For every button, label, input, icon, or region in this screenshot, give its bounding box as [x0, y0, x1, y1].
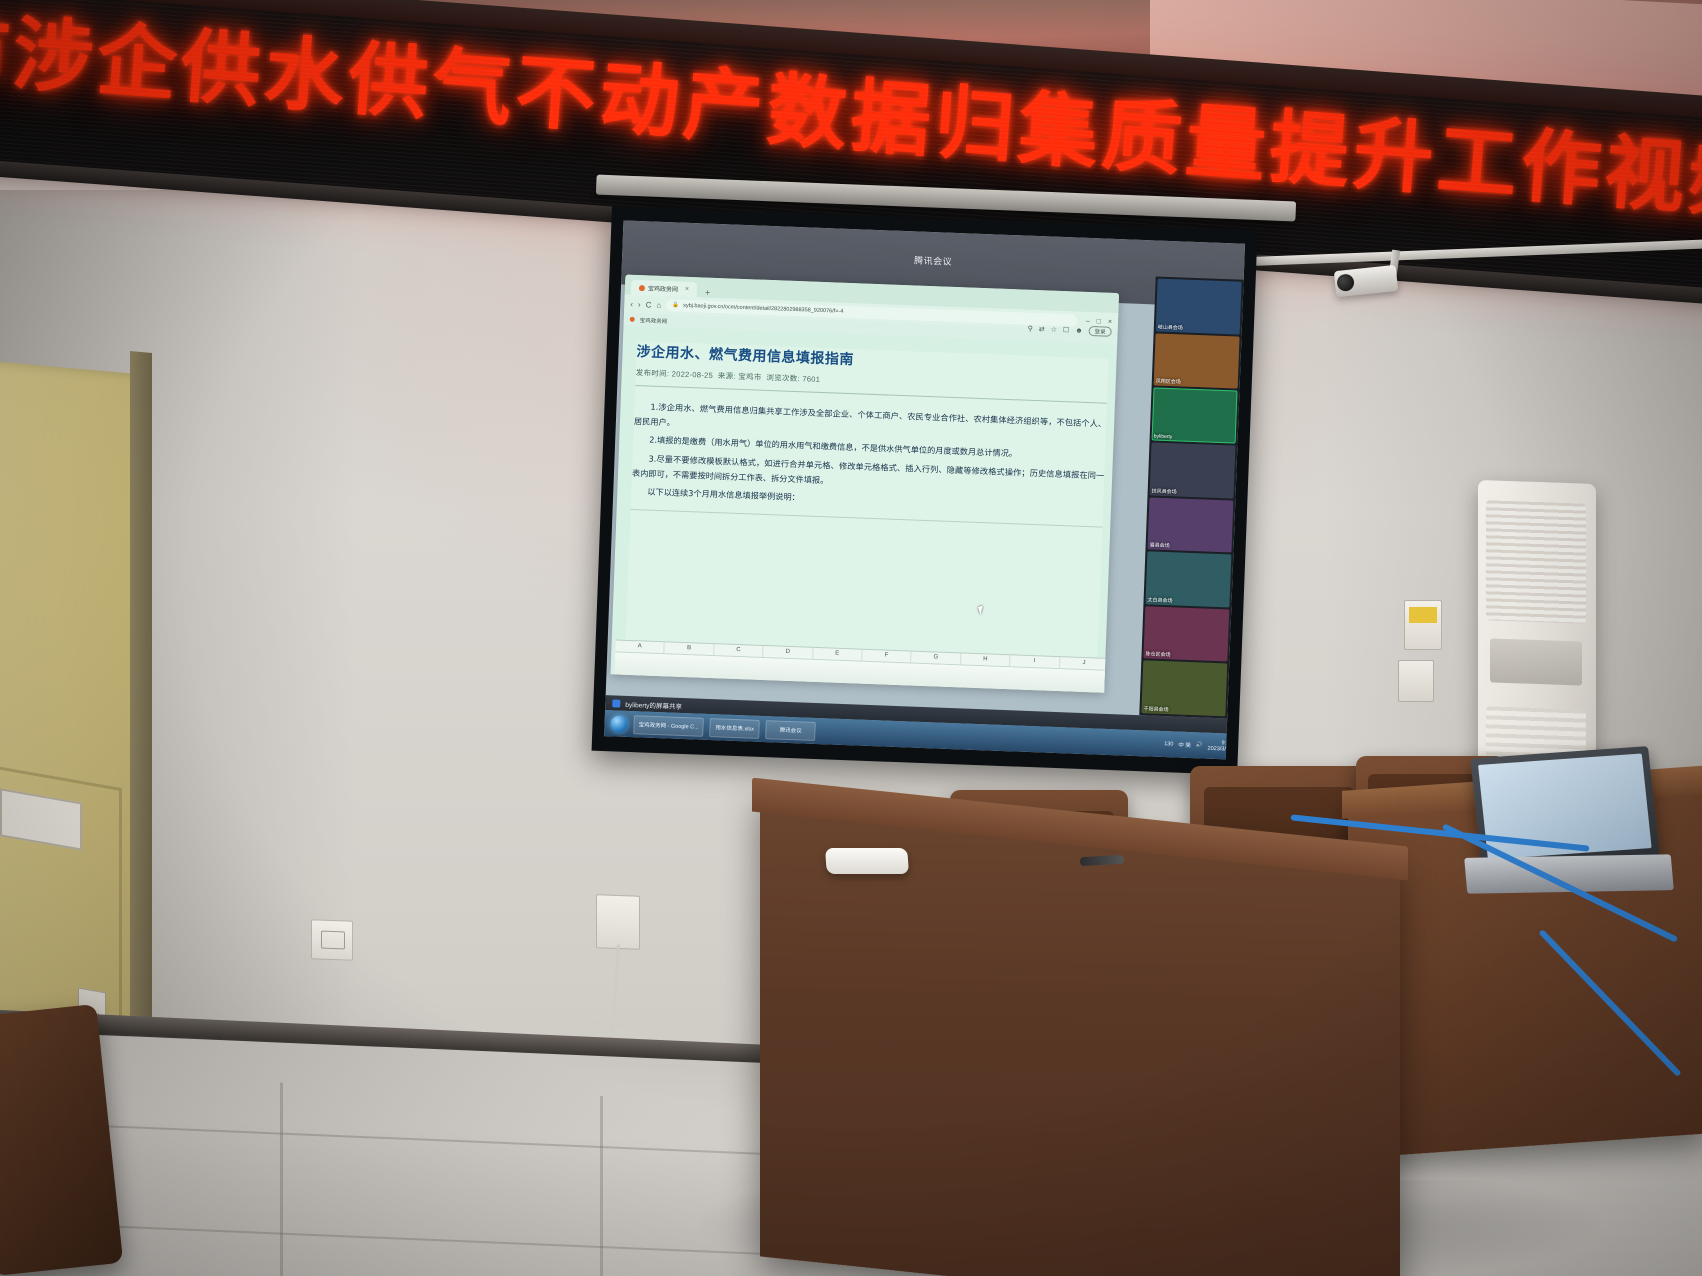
spreadsheet-col: F: [862, 650, 912, 663]
windows-start-icon[interactable]: [610, 715, 628, 733]
video-tile-label: 陈仓区会场: [1145, 651, 1170, 659]
maximize-icon[interactable]: □: [1097, 318, 1101, 325]
taskbar-item[interactable]: 用水信息表.xlsx: [709, 718, 760, 739]
views-value: 7601: [802, 374, 820, 384]
taskbar-item[interactable]: 腾讯会议: [765, 720, 816, 741]
floor-tile-line: [600, 1096, 603, 1276]
source-value: 宝鸡市: [738, 372, 762, 382]
reading-list-icon[interactable]: ☐: [1063, 326, 1070, 334]
spreadsheet-col: J: [1060, 657, 1110, 670]
url-text: sybj.baoji.gov.cn/ocm/content/detail/282…: [683, 303, 843, 315]
profile-icon[interactable]: ☻: [1075, 327, 1083, 334]
star-icon[interactable]: ☆: [1051, 326, 1058, 334]
publish-label: 发布时间:: [636, 368, 670, 378]
room-door[interactable]: 安全出口: [0, 361, 150, 1075]
views-label: 浏览次数:: [766, 373, 800, 383]
spreadsheet-col: A: [615, 640, 665, 653]
share-screen-icon: [612, 699, 620, 707]
source-label: 来源:: [718, 371, 736, 381]
window-controls: – □ ×: [1082, 317, 1112, 325]
new-tab-icon[interactable]: +: [701, 287, 715, 297]
sign-in-button[interactable]: 登录: [1088, 326, 1111, 337]
meeting-app-title: 腾讯会议: [622, 242, 1244, 278]
socket-icon: [321, 931, 345, 950]
spreadsheet-col: B: [665, 642, 715, 655]
video-tile[interactable]: 眉县会场: [1147, 497, 1233, 553]
warning-label-icon: [1409, 607, 1437, 623]
minimize-icon[interactable]: –: [1086, 317, 1090, 324]
close-icon[interactable]: ×: [1108, 318, 1112, 325]
video-tile-active[interactable]: byliberty: [1152, 388, 1238, 444]
projection-screen: 腾讯会议 正在讲话 宝鸡政务网 × + ‹: [604, 220, 1245, 759]
remote-control[interactable]: [825, 848, 909, 874]
wall-outlet-upper[interactable]: [596, 894, 640, 950]
video-tile-label: 千阳县会场: [1143, 705, 1168, 713]
clock-date: 2023/3/10: [1207, 746, 1232, 753]
ime-indicator[interactable]: 中 简: [1178, 741, 1191, 749]
browser-tab-title: 宝鸡政务网: [648, 283, 678, 293]
spreadsheet-col: G: [912, 652, 962, 665]
video-tile-label: 岐山县会场: [1158, 323, 1183, 331]
video-tile-label: 眉县会场: [1150, 542, 1170, 550]
video-tile[interactable]: 千阳县会场: [1141, 661, 1227, 717]
home-icon[interactable]: ⌂: [656, 300, 661, 309]
door-frame: [130, 351, 152, 1083]
article-body: 1.涉企用水、燃气费用信息归集共享工作涉及全部企业、个体工商户、农民专业合作社、…: [631, 399, 1106, 517]
browser-window[interactable]: 宝鸡政务网 × + ‹ › C ⌂ 🔒 sybj.baoji.gov.cn/oc…: [610, 275, 1119, 693]
video-tile-label: 凤翔区会场: [1156, 378, 1181, 386]
video-tile[interactable]: 凤翔区会场: [1154, 333, 1240, 389]
video-tile[interactable]: 扶风县会场: [1150, 442, 1236, 498]
taskbar-item[interactable]: 宝鸡政务网 - Google C...: [633, 715, 704, 737]
reload-icon[interactable]: C: [646, 300, 652, 309]
wall-control-box[interactable]: [1404, 600, 1442, 650]
bookmark-item[interactable]: 宝鸡政务网: [640, 316, 668, 325]
camera-lens: [1336, 273, 1355, 292]
ac-grille: [1486, 500, 1586, 623]
video-tile[interactable]: 岐山县会场: [1156, 279, 1242, 335]
spreadsheet-col: D: [763, 646, 813, 659]
forward-icon[interactable]: ›: [638, 300, 641, 309]
back-icon[interactable]: ‹: [630, 299, 633, 308]
floor-tile-line: [280, 1083, 283, 1276]
tab-close-icon[interactable]: ×: [685, 286, 689, 293]
wall-outlet-lower[interactable]: [311, 919, 353, 960]
floor-tile-line: [0, 1120, 880, 1160]
publish-value: 2022-08-25: [672, 369, 714, 380]
video-tile-label: 太白县会场: [1147, 596, 1172, 604]
share-notice-text: byliberty的屏幕共享: [625, 698, 682, 710]
spreadsheet-col: C: [714, 644, 764, 657]
video-tile[interactable]: 太白县会场: [1145, 551, 1231, 607]
spreadsheet-col: E: [813, 648, 863, 661]
lock-icon: 🔒: [672, 302, 679, 308]
video-tile[interactable]: 陈仓区会场: [1143, 606, 1229, 662]
projection-screen-frame: 腾讯会议 正在讲话 宝鸡政务网 × + ‹: [592, 206, 1258, 775]
zoom-level-value: 130: [1164, 741, 1173, 747]
video-tile-label: byliberty: [1154, 433, 1173, 440]
wall-switch-box[interactable]: [1398, 660, 1434, 702]
video-participant-strip: 岐山县会场 凤翔区会场 byliberty 扶风县会场 眉县会场 太白县会场 陈…: [1139, 276, 1243, 718]
volume-icon[interactable]: 🔊: [1196, 742, 1203, 748]
tab-favicon-icon: [639, 285, 645, 291]
bookmark-favicon-icon: [630, 317, 635, 322]
video-tile-label: 扶风县会场: [1152, 487, 1177, 495]
ac-control-panel[interactable]: [1490, 638, 1582, 685]
translate-icon[interactable]: ⇄: [1039, 325, 1045, 333]
article-page: 涉企用水、燃气费用信息填报指南 发布时间: 2022-08-25 来源: 宝鸡市…: [625, 341, 1109, 676]
spreadsheet-col: H: [961, 653, 1011, 666]
spreadsheet-col: I: [1010, 655, 1060, 668]
system-tray: 130 中 简 🔊 9:54 2023/3/10: [1164, 738, 1232, 753]
search-icon[interactable]: ⚲: [1028, 325, 1033, 333]
browser-tab[interactable]: 宝鸡政务网 ×: [631, 280, 698, 297]
taskbar-clock[interactable]: 9:54 2023/3/10: [1207, 739, 1232, 753]
conference-room-photo: 市涉企供水供气不动产数据归集质量提升工作视频会陇县分会场 安全出口 腾讯会议 正…: [0, 0, 1702, 1276]
